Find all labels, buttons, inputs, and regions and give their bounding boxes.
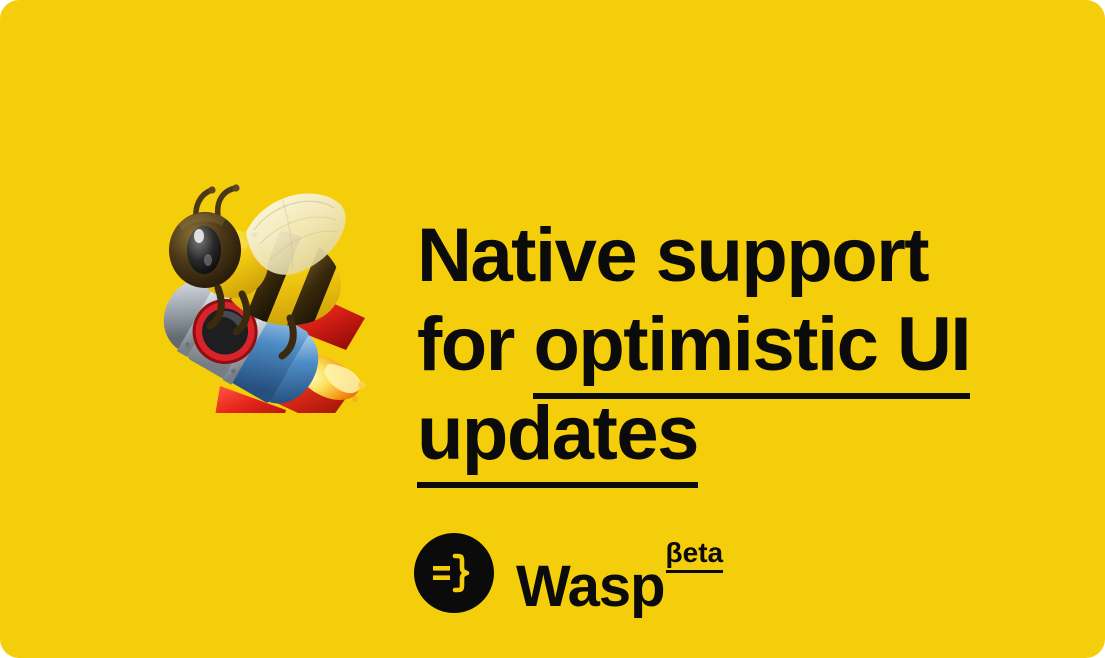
beta-badge: βeta [666,539,724,573]
bee-rocket-illustration [150,168,375,413]
promo-card: Native support for optimistic UI updates… [0,0,1105,658]
wasp-wordmark: Wasp βeta [516,544,723,602]
headline: Native support for optimistic UI updates [417,211,1017,478]
headline-line-2-plain: for [417,302,533,387]
headline-line-3-underlined: updates [417,391,698,488]
wasp-name: Wasp [516,558,665,616]
headline-line-2-underlined: optimistic UI [533,302,970,399]
wasp-mark-icon [414,533,494,613]
headline-line-1: Native support [417,213,928,298]
wasp-logo[interactable]: Wasp βeta [414,531,723,615]
